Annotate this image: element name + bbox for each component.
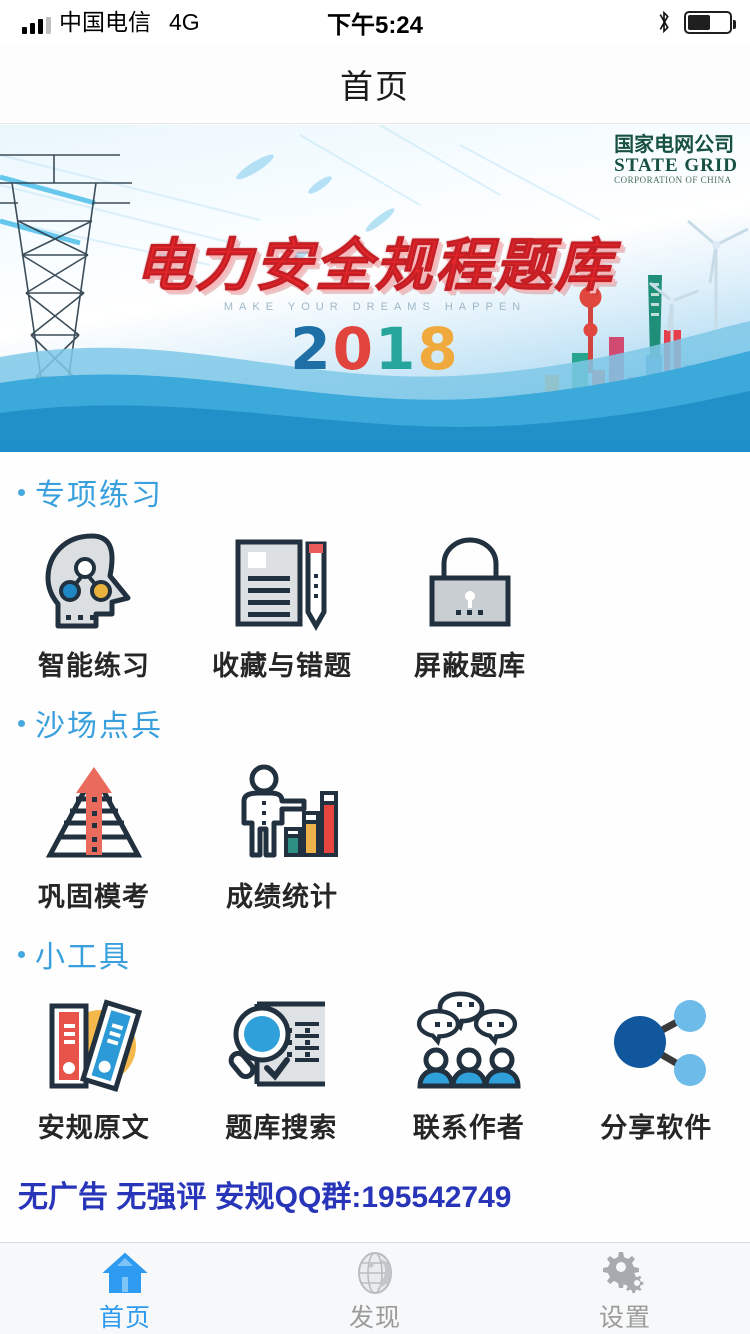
bullet-dot-icon — [18, 951, 25, 958]
section-tools: 小工具 — [0, 914, 750, 1145]
person-bar-chart-icon — [226, 753, 338, 871]
grid-item-label: 智能练习 — [38, 644, 150, 683]
banner-year-digit: 2 — [290, 315, 332, 383]
section-title: 小工具 — [35, 932, 131, 976]
grid-item-label: 题库搜索 — [225, 1106, 337, 1145]
tab-label: 首页 — [99, 1298, 151, 1334]
tab-label: 设置 — [599, 1298, 651, 1334]
section-header: 沙场点兵 — [0, 683, 750, 749]
books-binders-icon — [38, 984, 150, 1102]
battery-icon — [684, 11, 732, 34]
grid-item-smart-practice[interactable]: 智能练习 — [0, 522, 188, 683]
status-bar: 中国电信 4G 下午5:24 — [0, 0, 750, 44]
section-grid: 安规原文 — [0, 980, 750, 1145]
magnifier-checklist-icon — [225, 984, 337, 1102]
grid-item-favorites-wrong[interactable]: 收藏与错题 — [188, 522, 376, 683]
people-speech-bubbles-icon — [413, 984, 525, 1102]
tab-home[interactable]: 首页 — [0, 1243, 250, 1334]
grid-item-contact-author[interactable]: 联系作者 — [375, 984, 563, 1145]
bullet-dot-icon — [18, 720, 25, 727]
banner-year-digit: 8 — [417, 315, 459, 383]
grid-item-label: 安规原文 — [38, 1106, 150, 1145]
banner-year-digit: 0 — [333, 315, 375, 383]
grid-item-label: 巩固模考 — [38, 875, 150, 914]
section-title: 专项练习 — [35, 470, 163, 514]
section-header: 专项练习 — [0, 452, 750, 518]
section-grid: 智能练习 收藏与错题 — [0, 518, 750, 683]
brain-head-network-icon — [38, 522, 150, 640]
bullet-dot-icon — [18, 489, 25, 496]
state-grid-emblem-icon — [614, 135, 750, 452]
grid-item-label: 联系作者 — [413, 1106, 525, 1145]
grid-item-score-statistics[interactable]: 成绩统计 — [188, 753, 376, 914]
gears-icon — [601, 1250, 649, 1296]
grid-item-label: 分享软件 — [600, 1106, 712, 1145]
section-header: 小工具 — [0, 914, 750, 980]
share-nodes-icon — [600, 984, 712, 1102]
hero-banner[interactable]: 国家电网公司 STATE GRID CORPORATION OF CHINA 电… — [0, 125, 750, 452]
padlock-icon — [414, 522, 526, 640]
grid-item-consolidation-exam[interactable]: 巩固模考 — [0, 753, 188, 914]
grid-item-bank-search[interactable]: 题库搜索 — [188, 984, 376, 1145]
tab-settings[interactable]: 设置 — [500, 1243, 750, 1334]
app-screen: 中国电信 4G 下午5:24 首页 — [0, 0, 750, 1334]
grid-item-label: 成绩统计 — [226, 875, 338, 914]
promo-note: 无广告 无强评 安规QQ群:195542749 — [18, 1172, 512, 1216]
section-mock-exam: 沙场点兵 巩固 — [0, 683, 750, 914]
section-grid: 巩固模考 — [0, 749, 750, 914]
grid-item-label: 收藏与错题 — [212, 644, 352, 683]
status-bar-clock: 下午5:24 — [0, 5, 750, 40]
document-pencil-icon — [226, 522, 338, 640]
grid-item-share-app[interactable]: 分享软件 — [563, 984, 750, 1145]
tab-bar: 首页 发现 — [0, 1242, 750, 1334]
home-icon — [102, 1250, 148, 1296]
tab-label: 发现 — [349, 1298, 401, 1334]
tab-discover[interactable]: 发现 — [250, 1243, 500, 1334]
globe-icon — [353, 1250, 397, 1296]
section-title: 沙场点兵 — [35, 701, 163, 745]
page-title: 首页 — [340, 60, 410, 108]
bluetooth-icon — [656, 10, 672, 34]
nav-bar: 首页 — [0, 44, 750, 124]
pyramid-arrow-up-icon — [38, 753, 150, 871]
grid-item-blocked-bank[interactable]: 屏蔽题库 — [376, 522, 564, 683]
state-grid-logo: 国家电网公司 STATE GRID CORPORATION OF CHINA — [614, 135, 738, 185]
home-content: 专项练习 智能练习 — [0, 452, 750, 1242]
section-special-practice: 专项练习 智能练习 — [0, 452, 750, 683]
banner-year-digit: 1 — [375, 315, 417, 383]
grid-item-regulation-text[interactable]: 安规原文 — [0, 984, 188, 1145]
grid-item-label: 屏蔽题库 — [414, 644, 526, 683]
status-bar-right — [656, 10, 732, 34]
